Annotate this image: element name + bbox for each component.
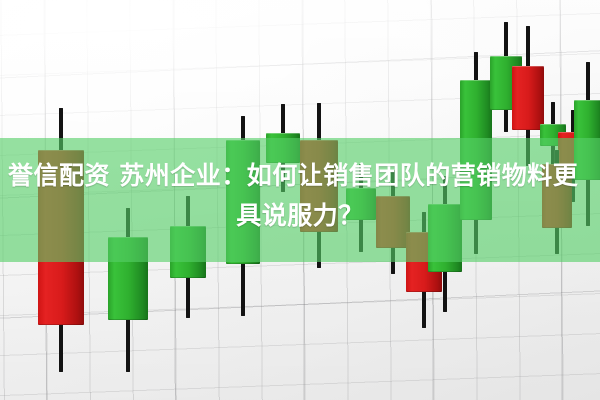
headline-line-1: 誉信配资 苏州企业：如何让销售团队的营销物料更 bbox=[6, 156, 594, 196]
headline-line-2: 具说服力？ bbox=[6, 196, 594, 236]
headline-text: 誉信配资 苏州企业：如何让销售团队的营销物料更 具说服力？ bbox=[0, 156, 600, 236]
candlestick-banner-image: 誉信配资 苏州企业：如何让销售团队的营销物料更 具说服力？ bbox=[0, 0, 600, 400]
